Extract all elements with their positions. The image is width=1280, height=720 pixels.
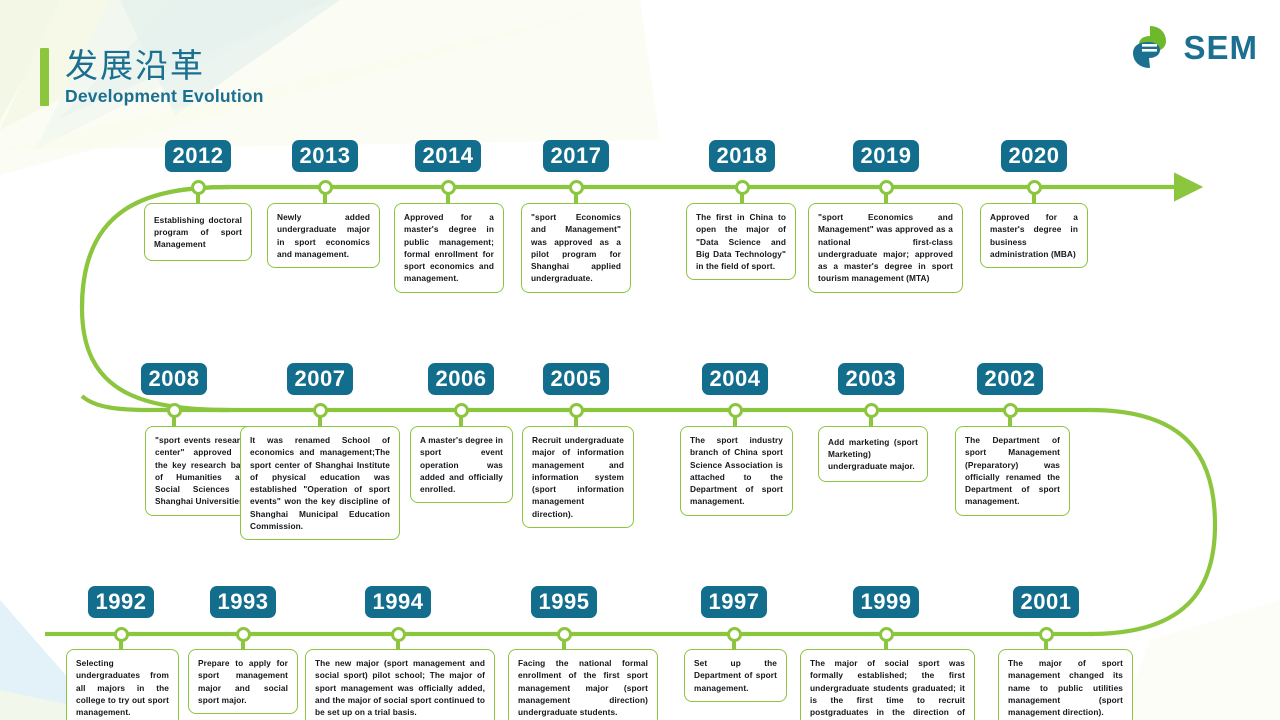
year-badge-2013: 2013: [292, 140, 358, 172]
year-badge-2018: 2018: [709, 140, 775, 172]
year-badge-2007: 2007: [287, 363, 353, 395]
timeline-node-2018[interactable]: [735, 180, 750, 195]
event-card-2007[interactable]: It was renamed School of economics and m…: [240, 426, 400, 540]
event-card-1994[interactable]: The new major (sport management and soci…: [305, 649, 495, 720]
title-accent-bar: [40, 48, 49, 106]
year-badge-2012: 2012: [165, 140, 231, 172]
year-badge-1994: 1994: [365, 586, 431, 618]
year-badge-1997: 1997: [701, 586, 767, 618]
timeline-node-2004[interactable]: [728, 403, 743, 418]
event-card-2020[interactable]: Approved for a master's degree in busine…: [980, 203, 1088, 268]
event-card-2006[interactable]: A master's degree in sport event operati…: [410, 426, 513, 503]
title-english: Development Evolution: [65, 87, 264, 106]
timeline-node-2008[interactable]: [167, 403, 182, 418]
year-badge-2005: 2005: [543, 363, 609, 395]
timeline-path: [0, 0, 1280, 720]
year-badge-1995: 1995: [531, 586, 597, 618]
timeline-node-2005[interactable]: [569, 403, 584, 418]
timeline-node-2012[interactable]: [191, 180, 206, 195]
timeline-node-2019[interactable]: [879, 180, 894, 195]
year-badge-1992: 1992: [88, 586, 154, 618]
timeline-node-2006[interactable]: [454, 403, 469, 418]
timeline-node-2014[interactable]: [441, 180, 456, 195]
year-badge-2002: 2002: [977, 363, 1043, 395]
event-card-2018[interactable]: The first in China to open the major of …: [686, 203, 796, 280]
event-card-1995[interactable]: Facing the national formal enrollment of…: [508, 649, 658, 720]
year-badge-2019: 2019: [853, 140, 919, 172]
year-badge-1993: 1993: [210, 586, 276, 618]
timeline-node-1992[interactable]: [114, 627, 129, 642]
year-badge-2004: 2004: [702, 363, 768, 395]
event-card-2017[interactable]: "sport Economics and Management" was app…: [521, 203, 631, 293]
event-card-2012[interactable]: Establishing doctoral program of sport M…: [144, 203, 252, 261]
timeline-node-1997[interactable]: [727, 627, 742, 642]
year-badge-1999: 1999: [853, 586, 919, 618]
sem-logo-text: SEM: [1183, 31, 1258, 64]
timeline-node-2007[interactable]: [313, 403, 328, 418]
page-title: 发展沿革 Development Evolution: [40, 48, 264, 106]
timeline-node-2001[interactable]: [1039, 627, 1054, 642]
event-card-2001[interactable]: The major of sport management changed it…: [998, 649, 1133, 720]
year-badge-2001: 2001: [1013, 586, 1079, 618]
timeline-node-1995[interactable]: [557, 627, 572, 642]
event-card-2004[interactable]: The sport industry branch of China sport…: [680, 426, 793, 516]
event-card-2003[interactable]: Add marketing (sport Marketing) undergra…: [818, 426, 928, 482]
year-badge-2003: 2003: [838, 363, 904, 395]
title-chinese: 发展沿革: [65, 48, 264, 85]
background-decoration: [0, 0, 1280, 720]
timeline-node-1994[interactable]: [391, 627, 406, 642]
event-card-1999[interactable]: The major of social sport was formally e…: [800, 649, 975, 720]
year-badge-2017: 2017: [543, 140, 609, 172]
year-badge-2006: 2006: [428, 363, 494, 395]
timeline-node-1999[interactable]: [879, 627, 894, 642]
slide-canvas: 发展沿革 Development Evolution SEM 2012Estab…: [0, 0, 1280, 720]
timeline-node-2017[interactable]: [569, 180, 584, 195]
timeline-node-2002[interactable]: [1003, 403, 1018, 418]
timeline-node-1993[interactable]: [236, 627, 251, 642]
year-badge-2014: 2014: [415, 140, 481, 172]
event-card-1997[interactable]: Set up the Department of sport managemen…: [684, 649, 787, 702]
event-card-2002[interactable]: The Department of sport Management (Prep…: [955, 426, 1070, 516]
timeline-node-2020[interactable]: [1027, 180, 1042, 195]
event-card-2005[interactable]: Recruit undergraduate major of informati…: [522, 426, 634, 528]
sem-logo-mark: [1127, 22, 1173, 72]
timeline-node-2003[interactable]: [864, 403, 879, 418]
year-badge-2008: 2008: [141, 363, 207, 395]
year-badge-2020: 2020: [1001, 140, 1067, 172]
timeline-node-2013[interactable]: [318, 180, 333, 195]
sem-logo: SEM: [1127, 22, 1258, 72]
event-card-2019[interactable]: "sport Economics and Management" was app…: [808, 203, 963, 293]
event-card-1992[interactable]: Selecting undergraduates from all majors…: [66, 649, 179, 720]
event-card-2013[interactable]: Newly added undergraduate major in sport…: [267, 203, 380, 268]
event-card-2014[interactable]: Approved for a master's degree in public…: [394, 203, 504, 293]
event-card-1993[interactable]: Prepare to apply for sport management ma…: [188, 649, 298, 714]
